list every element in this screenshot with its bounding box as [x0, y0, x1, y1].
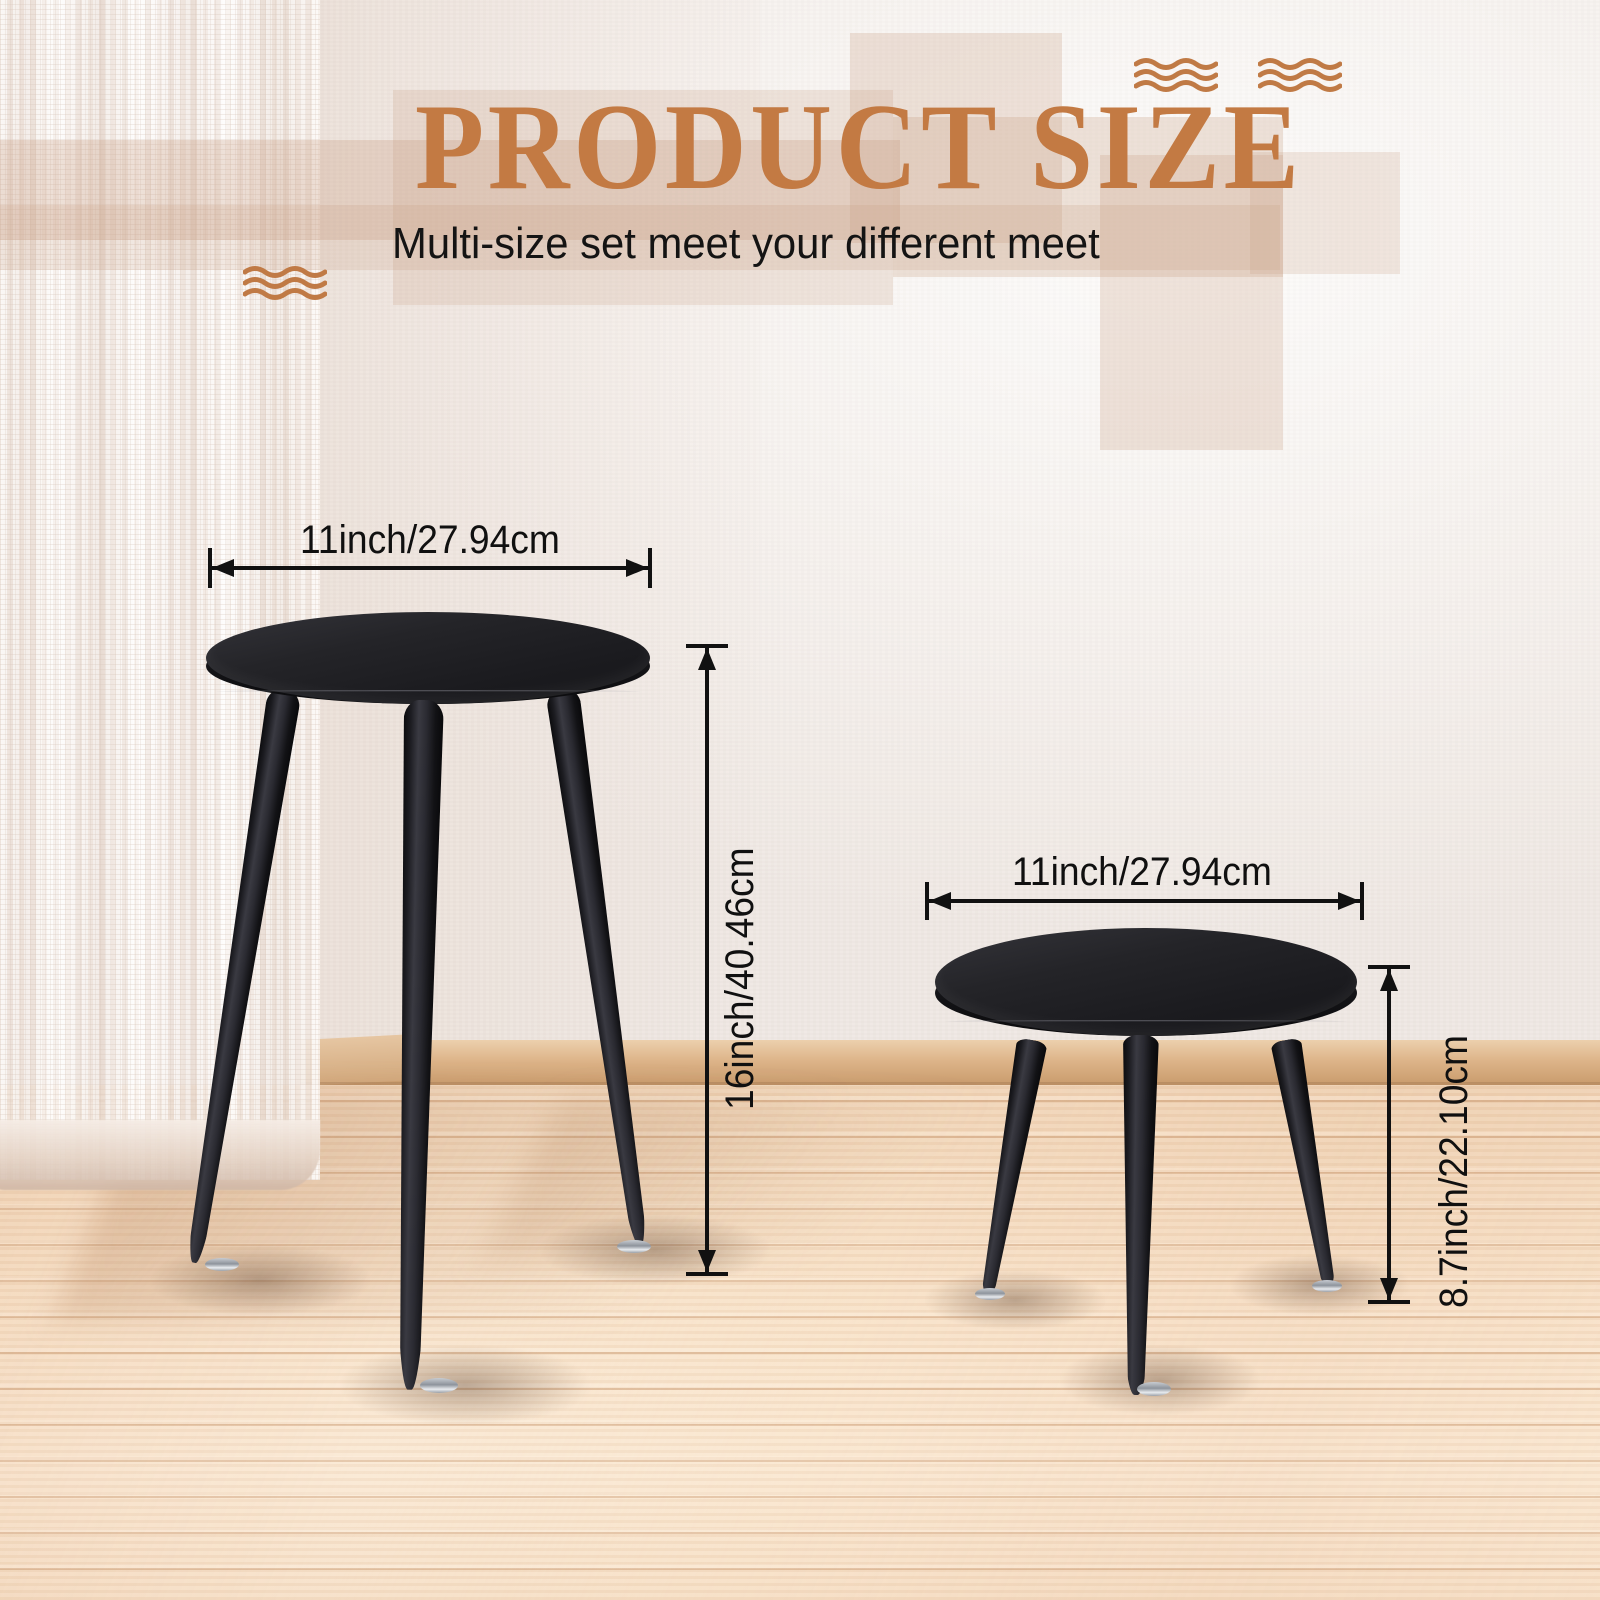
short-width-line [929, 899, 1360, 903]
tall-width-arrow-left [212, 559, 234, 577]
tall-height-line [705, 648, 709, 1272]
short-table [0, 0, 1600, 1600]
tall-width-tick-right [648, 548, 652, 588]
tall-table-top [206, 612, 650, 704]
tall-table-foot-front [420, 1378, 458, 1393]
tall-table-height-label: 16inch/40.46cm [718, 847, 763, 1110]
tall-table-foot-back-left [205, 1258, 239, 1271]
tall-height-arrow-bottom [698, 1250, 716, 1272]
tall-width-arrow-right [626, 559, 648, 577]
tall-height-arrow-top [698, 648, 716, 670]
tall-table-edge-highlight [216, 690, 640, 693]
short-table-shadow-front [1060, 1345, 1260, 1415]
short-table-edge-highlight [945, 1020, 1347, 1023]
short-height-arrow-top [1380, 969, 1398, 991]
tall-table-foot-back-right [617, 1240, 651, 1253]
short-table-height-label: 8.7inch/22.10cm [1432, 1035, 1477, 1308]
short-width-tick-right [1360, 882, 1364, 920]
tall-width-line [212, 566, 648, 570]
short-height-line [1387, 969, 1391, 1300]
short-table-top [935, 928, 1357, 1036]
short-width-arrow-right [1338, 892, 1360, 910]
short-table-foot-back-left [975, 1288, 1005, 1300]
short-table-leg-back-right [1270, 1037, 1344, 1289]
short-width-arrow-left [929, 892, 951, 910]
tall-table-width-label: 11inch/27.94cm [300, 518, 560, 563]
short-table-shadow-left [925, 1270, 1105, 1330]
short-table-foot-front [1137, 1382, 1171, 1396]
short-table-width-label: 11inch/27.94cm [1012, 850, 1272, 895]
short-height-tick-bottom [1368, 1300, 1410, 1304]
short-table-foot-back-right [1312, 1280, 1342, 1292]
short-table-leg-back-left [972, 1037, 1047, 1296]
short-height-arrow-bottom [1380, 1278, 1398, 1300]
tall-height-tick-bottom [686, 1272, 728, 1276]
product-size-infographic: PRODUCT SIZE Multi-size set meet your di… [0, 0, 1600, 1600]
short-table-leg-front [1118, 1035, 1159, 1395]
